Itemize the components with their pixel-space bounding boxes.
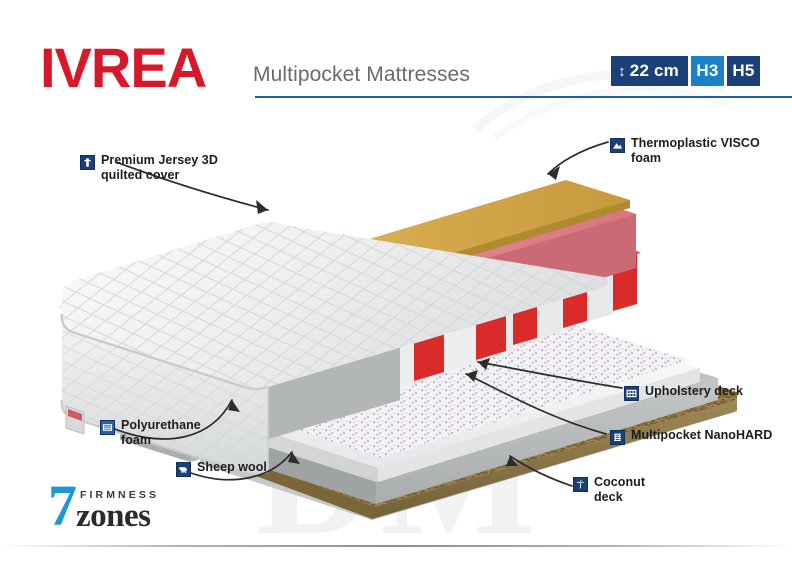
firmness-h3-badge: H3 [691,56,724,86]
firmness-zones-number: 7 [48,480,77,532]
sheep-icon [176,462,191,477]
callout-polyurethane-foam-label: Polyurethane foam [121,418,201,447]
callout-upholstery-deck: Upholstery deck [624,384,743,401]
upholstery-deck-icon [624,386,639,401]
spec-badges: ↕ 22 cm H3 H5 [611,56,760,86]
page-subtitle: Multipocket Mattresses [253,63,470,87]
height-badge: ↕ 22 cm [611,56,688,86]
brand-title: IVREA [40,40,206,96]
callout-premium-jersey-label: Premium Jersey 3D quilted cover [101,153,218,182]
visco-foam-icon [610,138,625,153]
firmness-zones-bottom-word: zones [76,500,151,533]
pocket-spring-icon [610,430,625,445]
palm-tree-icon [573,477,588,492]
callout-coconut-deck-label: Coconut deck [594,475,645,504]
callout-thermoplastic-visco-label: Thermoplastic VISCO foam [631,136,760,165]
mattress-cover-icon [80,155,95,170]
callout-thermoplastic-visco: Thermoplastic VISCO foam [610,136,760,165]
foam-block-icon [100,420,115,435]
callout-multipocket-nanohard-label: Multipocket NanoHARD [631,428,772,443]
callout-upholstery-deck-label: Upholstery deck [645,384,743,399]
height-badge-label: 22 cm [630,61,679,81]
callout-polyurethane-foam: Polyurethane foam [100,418,201,447]
header-divider [255,96,792,98]
callout-premium-jersey: Premium Jersey 3D quilted cover [80,153,218,182]
callout-sheep-wool-label: Sheep wool [197,460,267,475]
up-down-arrow-icon: ↕ [618,64,626,79]
infographic-page: DM IVREA Multipocket Mattresses ↕ 22 cm … [0,0,792,566]
firmness-h5-badge: H5 [727,56,760,86]
callout-sheep-wool: Sheep wool [176,460,267,477]
callout-multipocket-nanohard: Multipocket NanoHARD [610,428,772,445]
callout-coconut-deck: Coconut deck [573,475,645,504]
footer-divider [0,545,792,547]
